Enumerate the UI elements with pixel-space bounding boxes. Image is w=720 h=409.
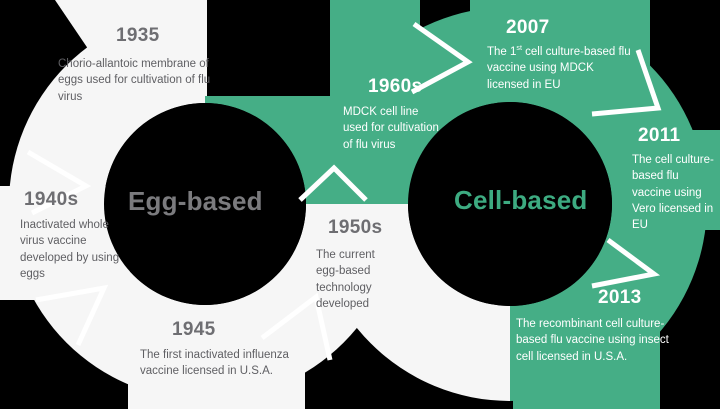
- milestone-1945-text: The first inactivated influenza vaccine …: [140, 347, 300, 380]
- milestone-1950s-year: 1950s: [328, 218, 382, 237]
- egg-based-center-label: Egg-based: [128, 186, 263, 217]
- milestone-1935-text: Chorio-allantoic membrane of eggs used f…: [58, 56, 218, 105]
- timeline-infographic: Egg-based Cell-based 1935 Chorio-allanto…: [0, 0, 720, 409]
- cell-based-center-label: Cell-based: [454, 185, 588, 216]
- milestone-1960s-year: 1960s: [368, 77, 422, 96]
- bg-cut-a: [207, 0, 330, 96]
- milestone-2007-text-prefix: The 1: [487, 46, 516, 58]
- milestone-2007-year: 2007: [506, 18, 549, 37]
- milestone-2011-text: The cell culture-based flu vaccine using…: [632, 152, 716, 234]
- milestone-1935-year: 1935: [116, 26, 159, 45]
- milestone-1950s-text: The current egg-based technology develop…: [316, 247, 400, 312]
- milestone-2011-year: 2011: [638, 126, 680, 145]
- milestone-1940s-year: 1940s: [24, 190, 78, 209]
- milestone-1940s-text: Inactivated whole virus vaccine develope…: [20, 217, 125, 282]
- milestone-2013-year: 2013: [598, 288, 641, 307]
- milestone-2007-text: The 1st cell culture-based flu vaccine u…: [487, 44, 635, 93]
- milestone-2013-text: The recombinant cell culture-based flu v…: [516, 316, 676, 365]
- milestone-1945-year: 1945: [172, 320, 215, 339]
- milestone-1960s-text: MDCK cell line used for cultivation of f…: [343, 104, 439, 153]
